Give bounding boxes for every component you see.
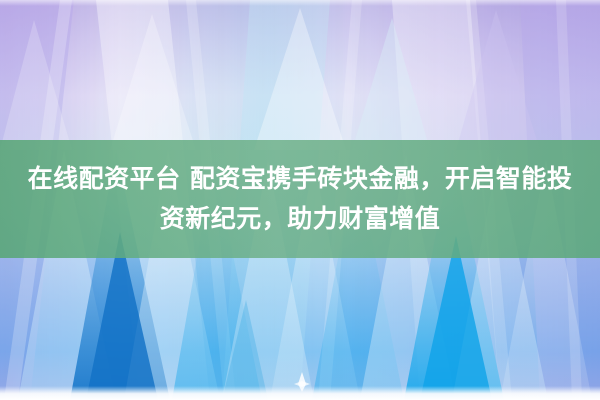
promo-banner: 在线配资平台 配资宝携手砖块金融，开启智能投 资新纪元，助力财富增值 <box>0 0 600 400</box>
top-light-strip <box>0 0 600 6</box>
headline-line-2: 资新纪元，助力财富增值 <box>0 199 600 239</box>
bottom-fade-strip <box>0 386 600 400</box>
headline-band: 在线配资平台 配资宝携手砖块金融，开启智能投 资新纪元，助力财富增值 <box>0 140 600 258</box>
headline-line-1: 在线配资平台 配资宝携手砖块金融，开启智能投 <box>0 159 600 199</box>
